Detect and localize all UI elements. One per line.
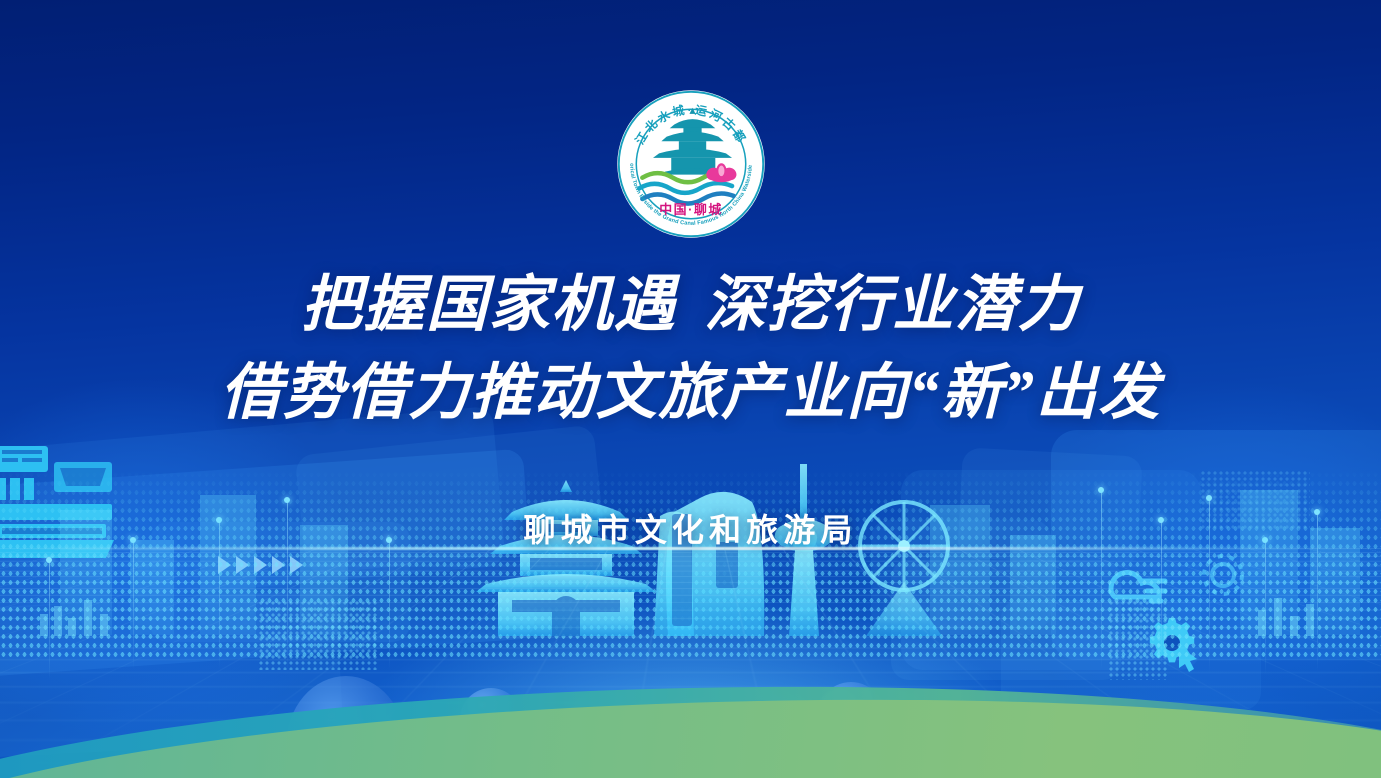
headline-line-1-part-1: 把握国家机遇 — [301, 272, 677, 339]
organization-logo: 中国·聊城 江北水城·运河古都 Historical Town Beside t… — [615, 88, 767, 240]
headline-line-1-part-2: 深挖行业潜力 — [705, 272, 1081, 339]
headline-line-2: 借势借力推动文旅产业向“新”出发 — [0, 350, 1381, 438]
emblem-center-text: 中国·聊城 — [659, 202, 723, 217]
liaocheng-emblem-icon: 中国·聊城 江北水城·运河古都 Historical Town Beside t… — [615, 88, 767, 240]
headline-line-1: 把握国家机遇深挖行业潜力 — [0, 262, 1381, 350]
page-subtitle: 聊城市文化和旅游局 — [0, 505, 1381, 551]
presentation-slide: 中国·聊城 江北水城·运河古都 Historical Town Beside t… — [0, 0, 1381, 778]
headline: 把握国家机遇深挖行业潜力 借势借力推动文旅产业向“新”出发 — [0, 262, 1381, 439]
